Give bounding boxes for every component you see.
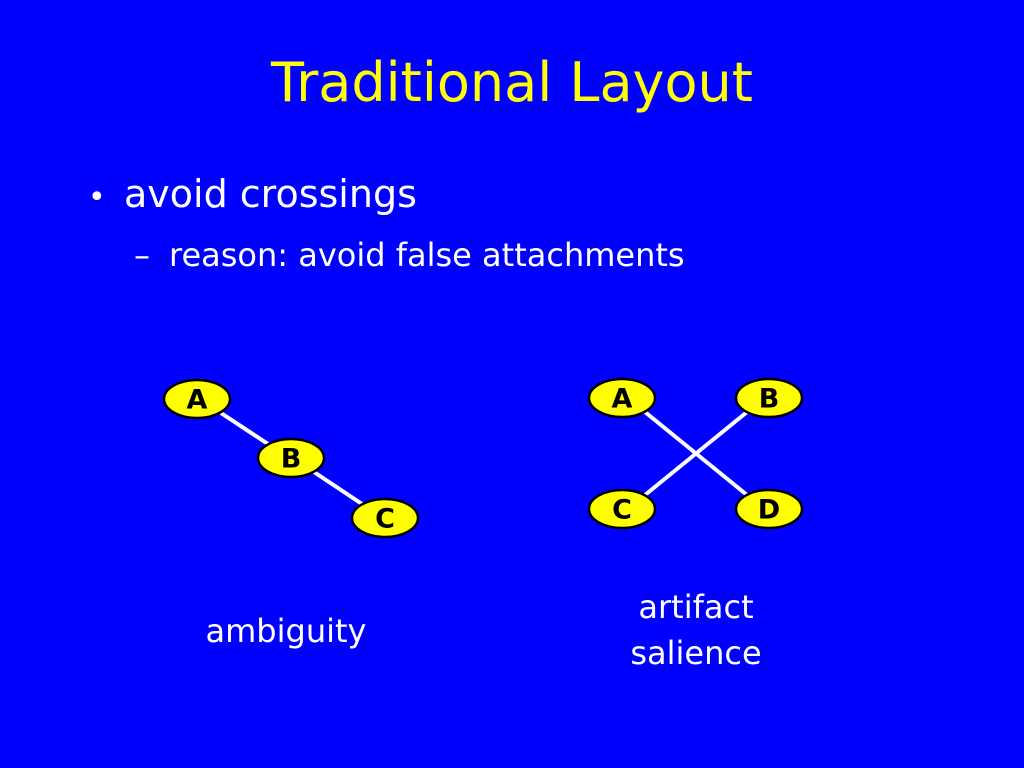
bullet-item-reason: – reason: avoid false attachments <box>0 234 1024 276</box>
node-ellipse <box>258 439 324 477</box>
slide-canvas: Traditional Layout • avoid crossings – r… <box>0 0 1024 768</box>
graph-node-c: C <box>589 490 655 528</box>
bullet-item-avoid-crossings: • avoid crossings <box>0 170 1024 222</box>
graph-edge-a-d <box>645 412 747 495</box>
graph-node-b: B <box>736 379 802 417</box>
node-label: A <box>612 384 633 415</box>
node-label: A <box>187 385 208 416</box>
graph-node-c: C <box>352 499 418 537</box>
graph-node-a: A <box>164 380 230 418</box>
graph-node-d: D <box>736 490 802 528</box>
graph-edges <box>221 413 362 504</box>
node-label: D <box>758 495 780 526</box>
node-ellipse <box>736 490 802 528</box>
bullet-list: • avoid crossings – reason: avoid false … <box>0 170 1024 276</box>
node-ellipse <box>164 380 230 418</box>
figure-caption-artifact-salience: artifact salience <box>556 584 836 676</box>
graph-nodes: A B C <box>164 380 418 537</box>
node-ellipse <box>589 379 655 417</box>
figure-caption-ambiguity: ambiguity <box>146 608 426 654</box>
node-ellipse <box>589 490 655 528</box>
node-label: B <box>759 384 780 415</box>
node-label: C <box>375 504 395 535</box>
graph-edges <box>645 412 747 495</box>
bullet-point-icon: • <box>88 174 124 222</box>
page-title: Traditional Layout <box>0 52 1024 114</box>
dash-bullet-icon: – <box>134 234 169 276</box>
graph-nodes: A B C D <box>589 379 802 528</box>
graph-node-a: A <box>589 379 655 417</box>
bullet-item-label: reason: avoid false attachments <box>169 234 685 276</box>
graph-node-b: B <box>258 439 324 477</box>
node-ellipse <box>352 499 418 537</box>
graph-edge-b-c <box>314 472 362 504</box>
node-label: C <box>612 495 632 526</box>
node-ellipse <box>736 379 802 417</box>
graph-edge-a-b <box>221 413 268 444</box>
bullet-item-label: avoid crossings <box>124 170 417 218</box>
graph-edge-c-b <box>645 412 747 495</box>
node-label: B <box>281 444 302 475</box>
